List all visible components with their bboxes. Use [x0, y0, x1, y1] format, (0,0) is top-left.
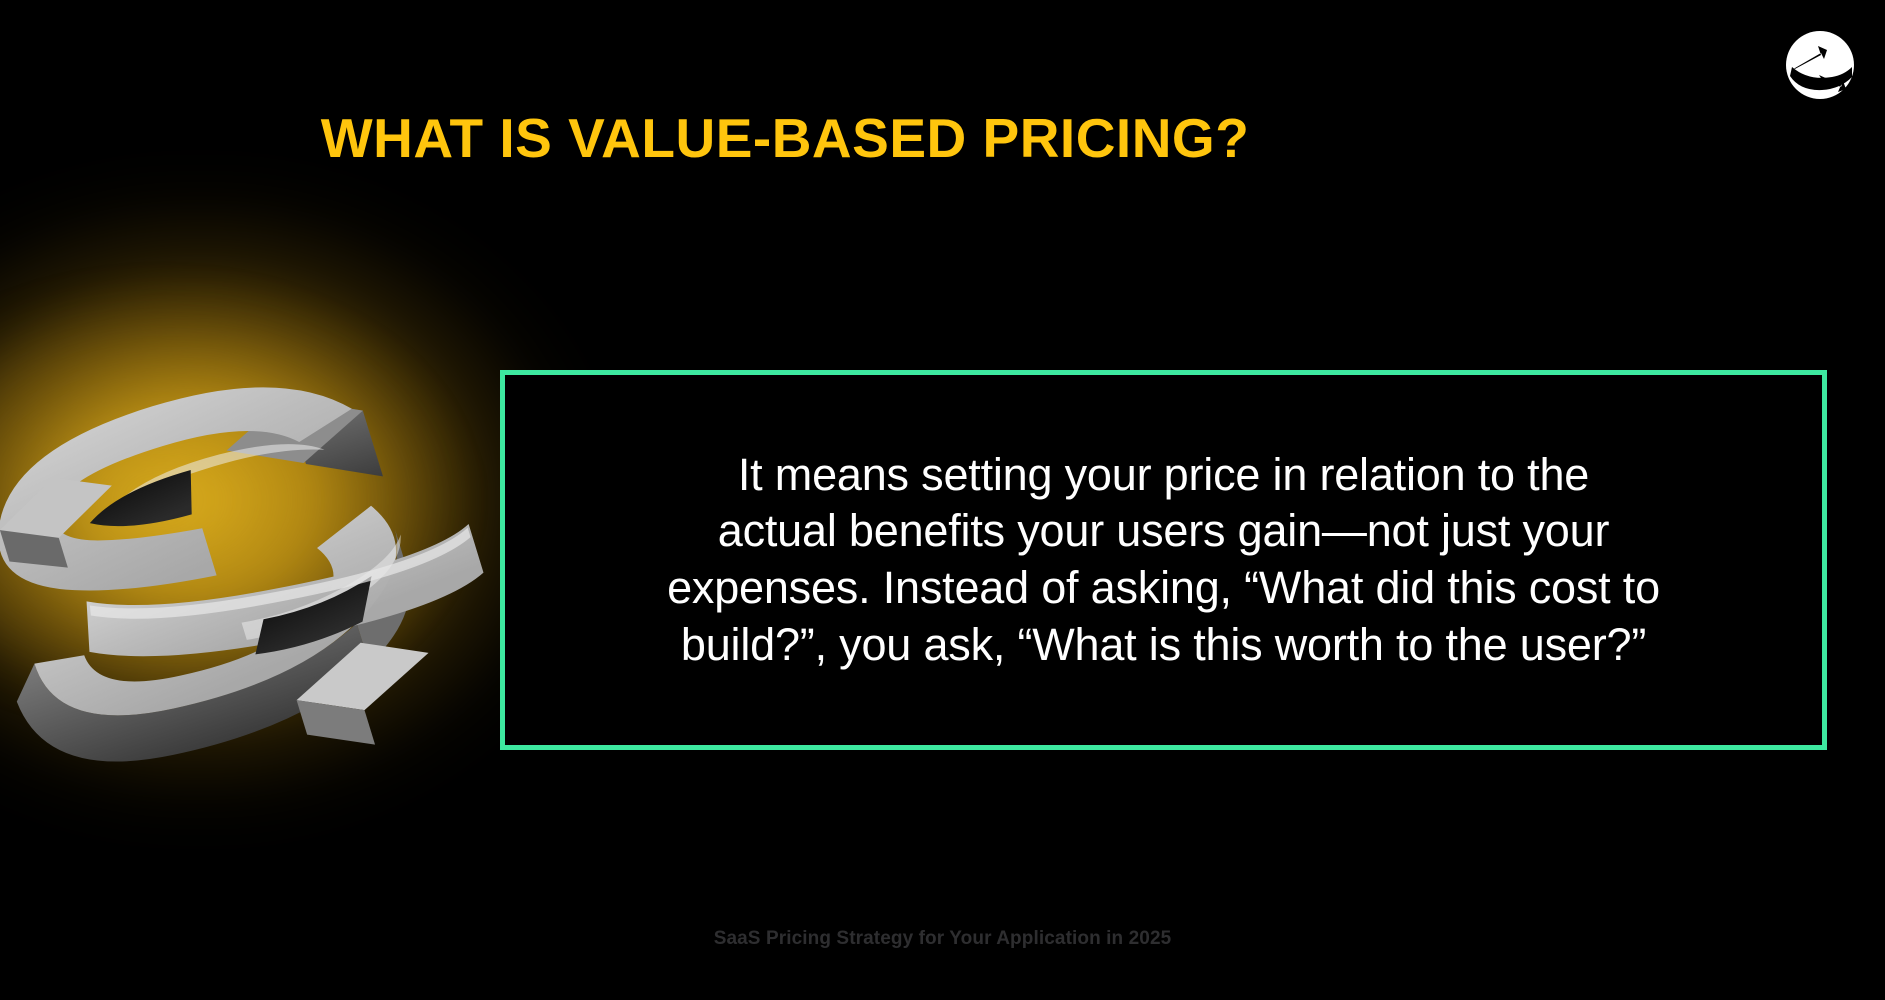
- callout-line-2: actual benefits your users gain—not just…: [718, 505, 1609, 556]
- footer-caption: SaaS Pricing Strategy for Your Applicati…: [0, 928, 1885, 950]
- callout-text: It means setting your price in relation …: [641, 447, 1686, 674]
- callout-line-4: build?”, you ask, “What is this worth to…: [681, 619, 1646, 670]
- slide-canvas: WHAT IS VALUE-BASED PRICING? It means se…: [0, 0, 1885, 1000]
- page-title: WHAT IS VALUE-BASED PRICING?: [0, 110, 1570, 168]
- golden-glow-core: [0, 240, 540, 760]
- callout-line-3: expenses. Instead of asking, “What did t…: [667, 562, 1660, 613]
- callout-line-1: It means setting your price in relation …: [738, 449, 1589, 500]
- callout-box: It means setting your price in relation …: [500, 370, 1827, 750]
- brand-logo-icon[interactable]: [1783, 28, 1857, 102]
